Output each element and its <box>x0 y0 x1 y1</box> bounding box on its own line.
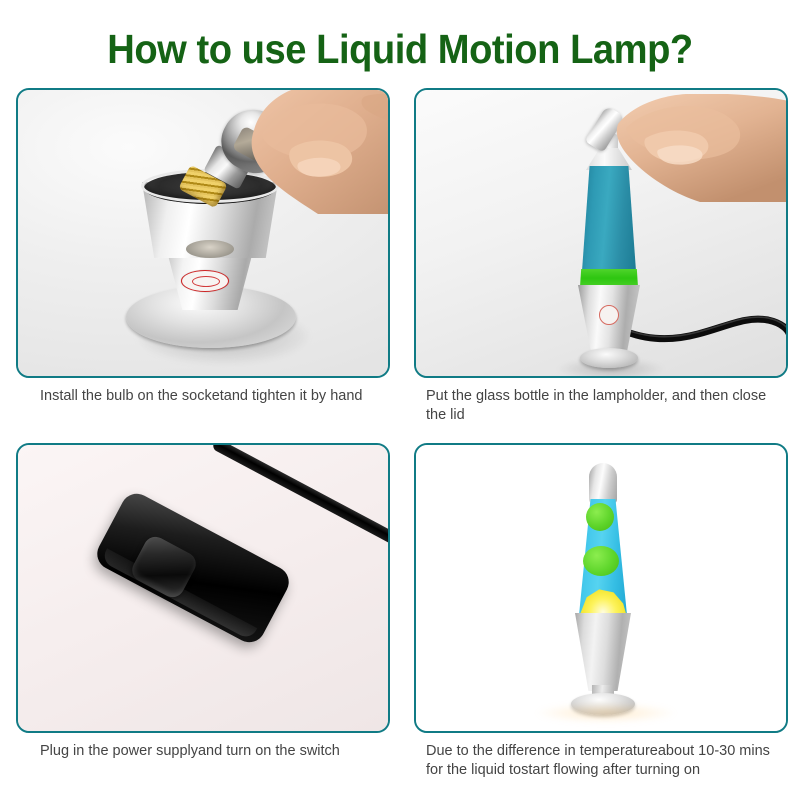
photo-lamp-flowing <box>414 443 788 733</box>
base-glow <box>536 703 676 723</box>
infographic-root: How to use Liquid Motion Lamp? <box>0 0 800 800</box>
page-title: How to use Liquid Motion Lamp? <box>28 26 772 73</box>
product-sticker <box>181 270 229 292</box>
lava-lamp-lit <box>561 463 645 721</box>
step-caption-3: Plug in the power supplyand turn on the … <box>16 742 390 761</box>
hand-holding-lid <box>612 94 788 202</box>
green-band <box>580 269 638 287</box>
photo-power-switch <box>16 443 390 733</box>
photo-install-bulb <box>16 88 390 378</box>
step-card-1: Install the bulb on the socketand tighte… <box>16 88 390 406</box>
step-card-3: Plug in the power supplyand turn on the … <box>16 443 390 761</box>
step-card-4: Due to the difference in temperatureabou… <box>414 443 788 779</box>
photo-close-lid <box>414 88 788 378</box>
lamp-body <box>575 613 631 691</box>
step-caption-4: Due to the difference in temperatureabou… <box>414 742 788 779</box>
bulb-socket <box>186 240 234 258</box>
lava-blob-middle <box>583 546 619 576</box>
step-caption-1: Install the bulb on the socketand tighte… <box>16 387 390 406</box>
steps-grid: Install the bulb on the socketand tighte… <box>16 88 788 788</box>
lava-blob-top <box>586 503 614 531</box>
hand-holding-bulb <box>246 88 390 214</box>
step-card-2: Put the glass bottle in the lampholder, … <box>414 88 788 424</box>
product-sticker <box>599 305 619 325</box>
lamp-foot <box>580 348 638 368</box>
step-caption-2: Put the glass bottle in the lampholder, … <box>414 387 788 424</box>
lamp-cap <box>589 463 617 503</box>
